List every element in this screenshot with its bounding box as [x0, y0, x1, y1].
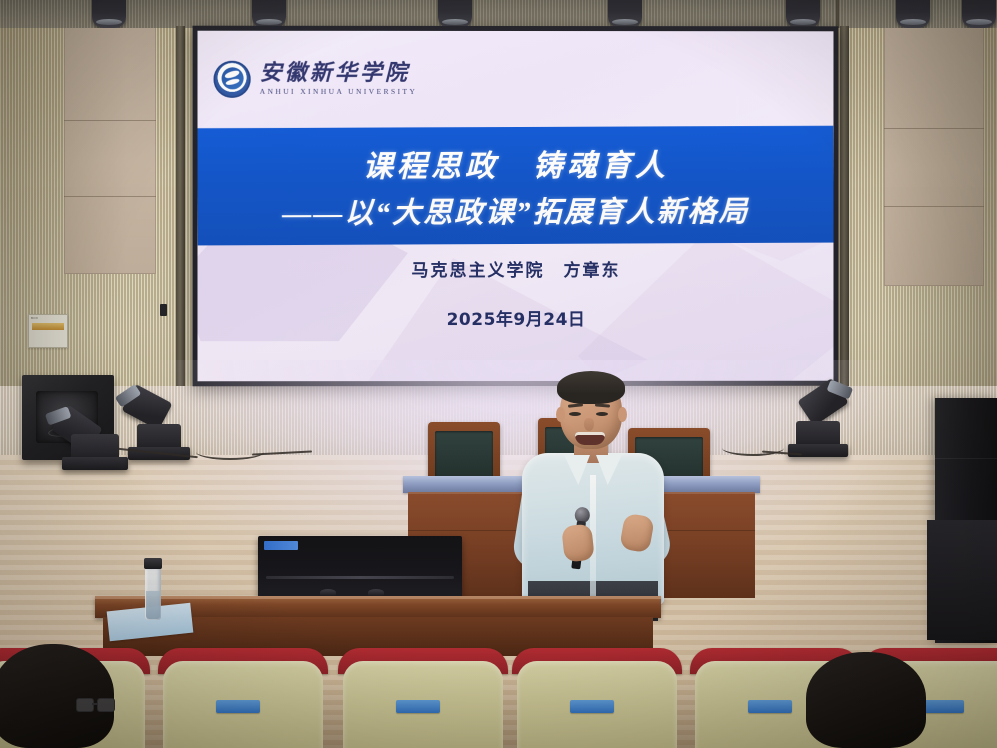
seat-number-plate	[216, 700, 260, 713]
presenter-nose	[584, 418, 594, 431]
presenter-hand-left	[561, 524, 595, 563]
slide-title-line-2: ——以“大思政课”拓展育人新格局	[282, 188, 749, 232]
equipment-cabinet	[927, 520, 997, 640]
presenter-eye	[569, 412, 581, 416]
slide-presenter: 马克思主义学院 方章东	[411, 256, 620, 281]
slide-subtitle-block: 马克思主义学院 方章东 2025年9月24日	[198, 256, 834, 330]
lecture-hall-photo: BOX	[0, 0, 997, 748]
power-cable	[196, 444, 264, 460]
audience-seating	[0, 648, 997, 748]
presenter-hair	[557, 371, 625, 404]
power-cable	[722, 440, 784, 456]
slide-title-line-1: 课程思政 铸魂育人	[363, 140, 669, 185]
seat-number-plate	[570, 700, 614, 713]
console-knob[interactable]	[320, 589, 336, 596]
slide-surface: 安徽新华学院 ANHUI XINHUA UNIVERSITY 课程思政 铸魂育人…	[198, 31, 834, 382]
slide-date: 2025年9月24日	[447, 305, 586, 330]
university-name: 安徽新华学院 ANHUI XINHUA UNIVERSITY	[260, 62, 418, 96]
bottle-cap	[144, 558, 162, 569]
university-name-cn: 安徽新华学院	[260, 62, 418, 84]
slide-header: 安徽新华学院 ANHUI XINHUA UNIVERSITY	[198, 31, 834, 127]
ceiling-downlight-icon	[896, 0, 930, 28]
university-crest-icon	[214, 60, 251, 97]
ceiling-downlight-icon	[608, 0, 642, 28]
slide-title-band: 课程思政 铸魂育人 ——以“大思政课”拓展育人新格局	[198, 126, 834, 246]
university-name-en: ANHUI XINHUA UNIVERSITY	[260, 88, 418, 96]
av-control-console	[258, 536, 462, 598]
audience-member	[0, 644, 114, 748]
projection-screen: 安徽新华学院 ANHUI XINHUA UNIVERSITY 课程思政 铸魂育人…	[192, 26, 838, 387]
ceiling-downlight-icon	[786, 0, 820, 28]
seat-number-plate	[396, 700, 440, 713]
ceiling-downlight-icon	[252, 0, 286, 28]
console-knob[interactable]	[368, 589, 384, 596]
console-brand-label	[264, 541, 298, 550]
moving-head-light	[788, 397, 848, 457]
seat-number-plate	[920, 700, 964, 713]
presenter-mouth	[575, 432, 605, 445]
water-bottle	[142, 558, 164, 620]
ceiling-downlight-icon	[962, 0, 996, 28]
presenter	[508, 375, 678, 615]
ceiling-downlight-icon	[438, 0, 472, 28]
presenter-eye	[596, 412, 608, 416]
presenter-ear	[618, 407, 627, 422]
auditorium-seat[interactable]	[158, 648, 328, 748]
moving-head-light	[62, 418, 128, 470]
eyeglasses-icon	[76, 698, 114, 714]
auditorium-seat[interactable]	[512, 648, 682, 748]
console-vent-slot	[266, 576, 454, 579]
university-logo: 安徽新华学院 ANHUI XINHUA UNIVERSITY	[214, 60, 418, 97]
audience-member	[806, 652, 926, 748]
seat-number-plate	[748, 700, 792, 713]
ceiling-downlight-icon	[92, 0, 126, 28]
stage-chair	[428, 422, 500, 484]
presenter-ear	[556, 407, 565, 422]
auditorium-seat[interactable]	[338, 648, 508, 748]
